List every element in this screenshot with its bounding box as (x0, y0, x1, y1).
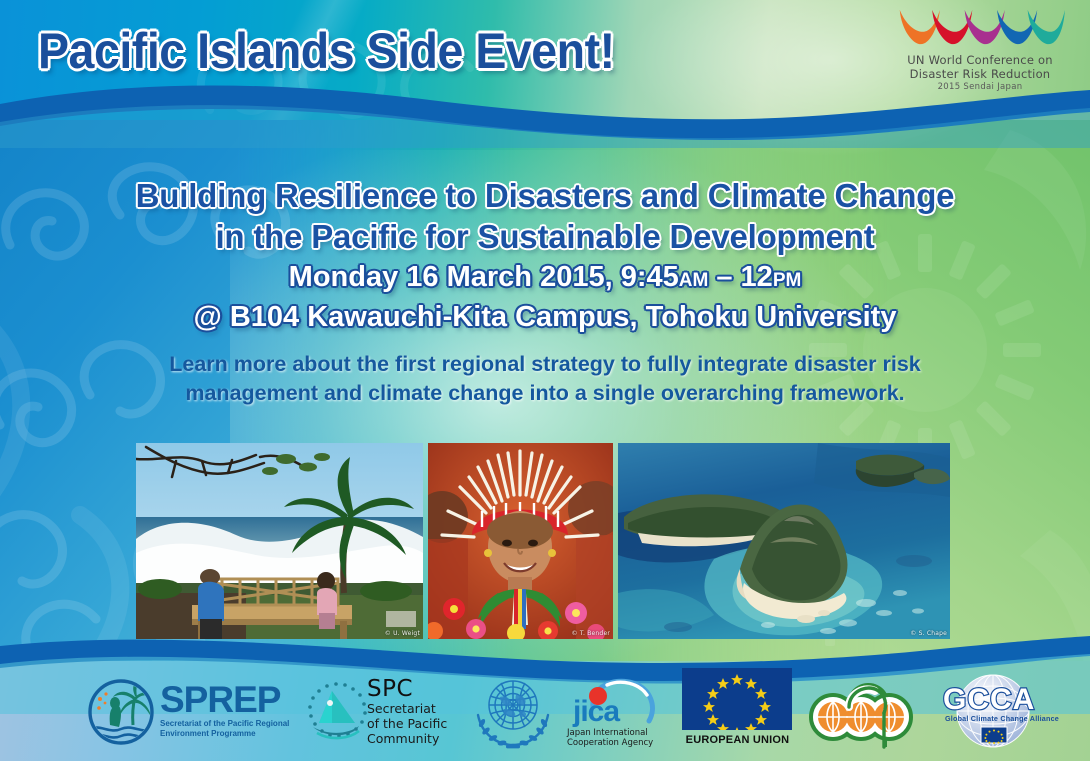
svg-text:Global Climate Change Alliance: Global Climate Change Alliance (945, 714, 1059, 723)
jica-emblem-icon: jica (567, 677, 667, 729)
sprep-subtitle-line1: Secretariat of the Pacific Regional (160, 719, 295, 729)
gcca-emblem-icon: GCCA Global Climate Change Alliance (925, 671, 1061, 749)
photo-credit: © S. Chape (910, 630, 947, 637)
headline-line-2: in the Pacific for Sustainable Developme… (0, 216, 1090, 257)
sprep-wordmark: SPREP Secretariat of the Pacific Regiona… (160, 681, 295, 739)
acp-emblem-icon (805, 675, 917, 749)
photo-strip: © U. Weigt (136, 443, 950, 639)
partner-logo-row: SPREP Secretariat of the Pacific Regiona… (0, 663, 1090, 759)
coastal-waves-photo: © U. Weigt (136, 443, 423, 639)
coastal-waves-illustration (136, 443, 423, 639)
sprep-subtitle-line2: Environment Programme (160, 729, 295, 739)
conference-name-line2: Disaster Risk Reduction (890, 67, 1070, 81)
spc-subtitle-line3: Community (367, 731, 447, 746)
pacific-girl-illustration (428, 443, 613, 639)
photo-credit: © T. Bender (572, 630, 610, 637)
partner-logo-acp[interactable] (805, 675, 920, 753)
spc-subtitle-line1: Secretariat (367, 701, 447, 716)
conference-place-year: 2015 Sendai Japan (890, 82, 1070, 92)
partner-logo-european-union[interactable]: EUROPEAN UNION (680, 668, 795, 753)
un-conference-logo: UN World Conference on Disaster Risk Red… (890, 6, 1070, 94)
spc-acronym: SPC (367, 677, 447, 701)
sprep-emblem-icon (88, 679, 154, 745)
datetime-main: Monday 16 March 2015, 9:45 (289, 261, 679, 293)
un-emblem-icon (470, 671, 556, 751)
event-venue: @ B104 Kawauchi-Kita Campus, Tohoku Univ… (0, 301, 1090, 334)
event-headline: Building Resilience to Disasters and Cli… (0, 175, 1090, 257)
jica-subtitle-line1: Japan International (567, 728, 653, 738)
conference-name-line1: UN World Conference on (890, 53, 1070, 67)
headline-line-1: Building Resilience to Disasters and Cli… (136, 177, 955, 214)
description-line-2: management and climate change into a sin… (120, 379, 970, 408)
jica-subtitle-line2: Cooperation Agency (567, 738, 653, 748)
partner-logo-spc[interactable]: SPC Secretariat of the Pacific Community (305, 673, 465, 753)
spc-subtitle-line2: of the Pacific (367, 716, 447, 731)
photo-credit: © U. Weigt (385, 630, 420, 637)
partner-logo-sprep[interactable]: SPREP Secretariat of the Pacific Regiona… (88, 673, 293, 753)
sprep-acronym: SPREP (160, 681, 295, 719)
poster-canvas: UN World Conference on Disaster Risk Red… (0, 0, 1090, 761)
spc-emblem-icon (305, 679, 367, 747)
event-datetime: Monday 16 March 2015, 9:45AM – 12PM (0, 261, 1090, 294)
aerial-islands-photo: © S. Chape (618, 443, 950, 639)
svg-text:GCCA: GCCA (943, 683, 1035, 716)
partner-logo-jica[interactable]: jica Japan International Cooperation Age… (565, 673, 670, 753)
description-line-1: Learn more about the first regional stra… (169, 352, 921, 376)
pacific-girl-photo: © T. Bender (428, 443, 613, 639)
eu-flag-icon (682, 668, 792, 730)
partner-logo-united-nations[interactable] (470, 671, 560, 753)
wcdrr-marks-icon (894, 6, 1066, 48)
svg-text:jica: jica (572, 695, 620, 728)
datetime-am: AM (679, 270, 709, 291)
eu-label: EUROPEAN UNION (680, 734, 795, 746)
page-title: Pacific Islands Side Event! (38, 22, 615, 80)
aerial-islands-illustration (618, 443, 950, 639)
event-description: Learn more about the first regional stra… (120, 350, 970, 408)
datetime-dash: – 12 (708, 261, 773, 293)
datetime-pm: PM (773, 270, 802, 291)
jica-wordmark: Japan International Cooperation Agency (567, 728, 653, 748)
partner-logo-gcca[interactable]: GCCA Global Climate Change Alliance (925, 671, 1065, 753)
spc-wordmark: SPC Secretariat of the Pacific Community (367, 677, 447, 746)
